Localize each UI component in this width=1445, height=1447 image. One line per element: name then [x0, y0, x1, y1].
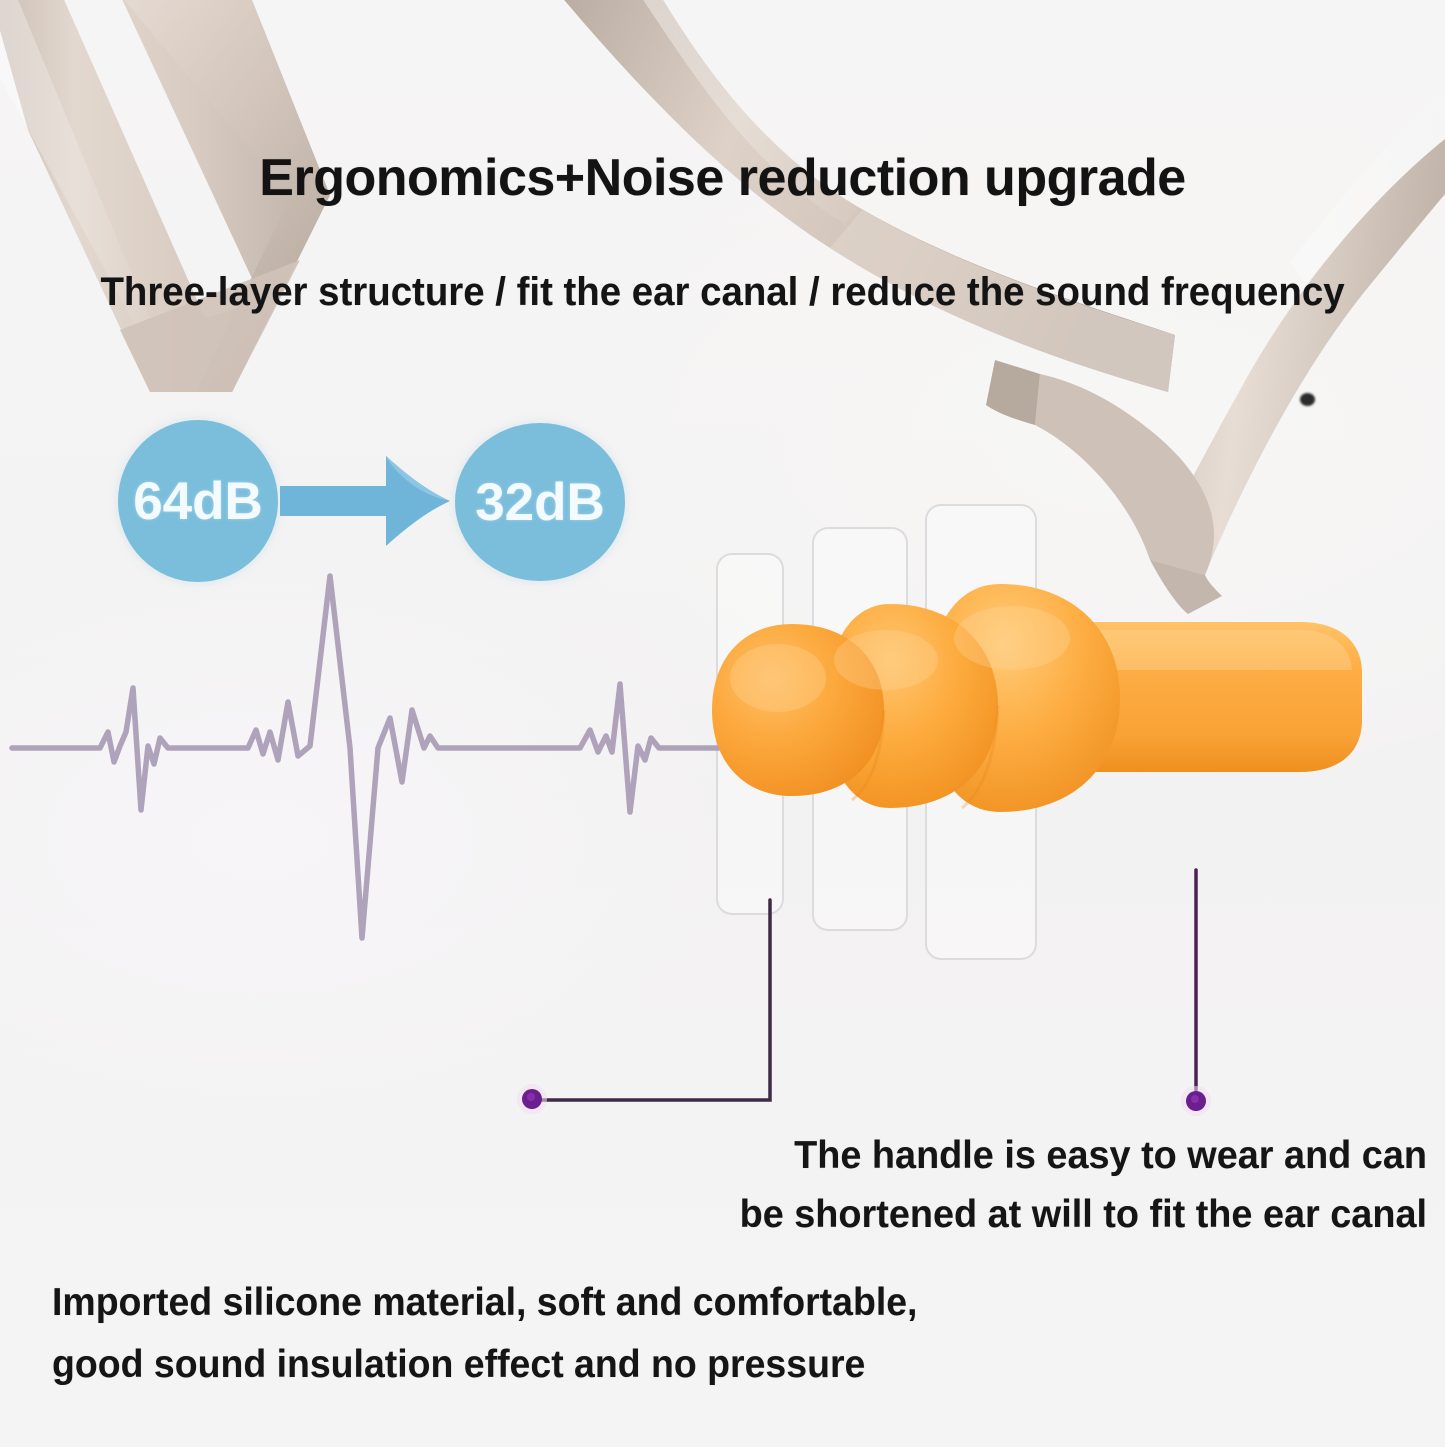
dust-speck-artifact [1300, 393, 1315, 406]
infographic-canvas: Ergonomics+Noise reduction upgrade Three… [0, 0, 1445, 1447]
noise-output-badge: 32dB [455, 423, 625, 581]
noise-output-value: 32dB [475, 472, 605, 533]
page-title: Ergonomics+Noise reduction upgrade [0, 148, 1445, 208]
noise-input-value: 64dB [133, 471, 263, 532]
callout-handle-line2: be shortened at will to fit the ear cana… [632, 1185, 1427, 1244]
silicone-earplug-image [700, 560, 1400, 910]
page-subtitle: Three-layer structure / fit the ear cana… [29, 270, 1416, 315]
bottom-note-line2: good sound insulation effect and no pres… [52, 1334, 917, 1396]
callout-handle-line1: The handle is easy to wear and can [632, 1126, 1427, 1185]
bottom-note-text: Imported silicone material, soft and com… [52, 1272, 917, 1395]
bottom-note-line1: Imported silicone material, soft and com… [52, 1272, 917, 1334]
callout-handle-text: The handle is easy to wear and can be sh… [632, 1126, 1427, 1245]
sound-waveform-icon [0, 560, 760, 950]
right-arrow-icon [278, 440, 462, 562]
noise-input-badge: 64dB [118, 420, 278, 582]
